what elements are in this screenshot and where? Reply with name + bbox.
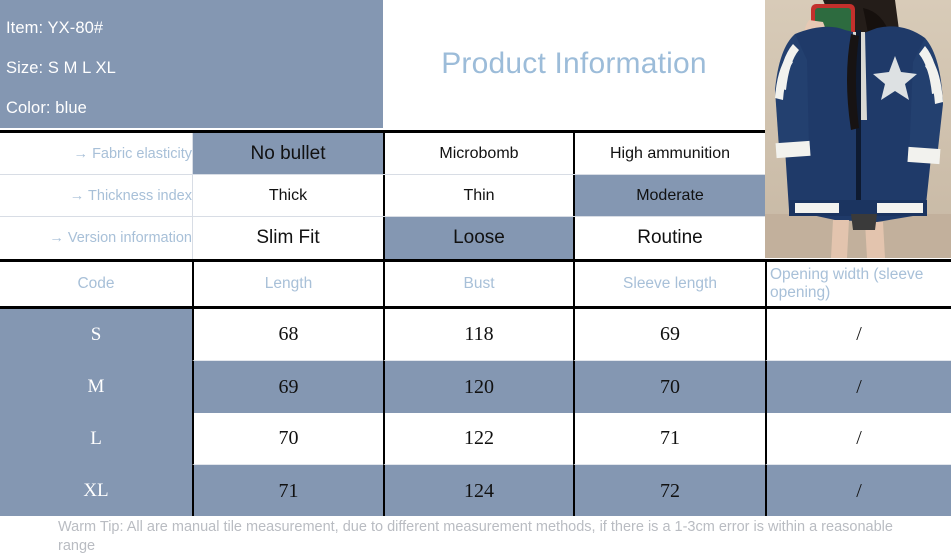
table-row: L 70 122 71 / [0, 413, 951, 465]
attribute-option-slim-fit[interactable]: Slim Fit [192, 217, 383, 259]
attribute-option-label: Thin [463, 187, 494, 205]
size-sleeve-cell: 72 [573, 465, 765, 517]
attribute-option-no-bullet[interactable]: No bullet [192, 133, 383, 174]
attribute-option-label: Microbomb [439, 145, 518, 163]
size-opening-cell: / [765, 413, 951, 465]
footer-note-area: Warm Tip: All are manual tile measuremen… [0, 516, 951, 556]
attribute-option-thin[interactable]: Thin [383, 175, 573, 216]
column-header-code: Code [0, 262, 192, 306]
column-header-sleeve-length: Sleeve length [573, 262, 765, 306]
size-opening-cell: / [765, 361, 951, 413]
attribute-option-routine[interactable]: Routine [573, 217, 765, 259]
attribute-option-label: Moderate [636, 187, 704, 205]
attribute-label-fabric-elasticity: → Fabric elasticity [0, 133, 192, 174]
attribute-option-microbomb[interactable]: Microbomb [383, 133, 573, 174]
size-sleeve-cell: 70 [573, 361, 765, 413]
product-photo [765, 0, 951, 258]
size-sleeve-cell: 71 [573, 413, 765, 465]
attribute-row-thickness-index: → Thickness index Thick Thin Moderate [0, 175, 765, 217]
table-row: XL 71 124 72 / [0, 465, 951, 517]
size-chart-table: Code Length Bust Sleeve length Opening w… [0, 259, 951, 516]
size-bust-cell: 118 [383, 309, 573, 361]
size-code-cell: XL [0, 465, 192, 517]
warm-tip-text: Warm Tip: All are manual tile measuremen… [58, 518, 918, 556]
size-code-cell: S [0, 309, 192, 361]
attribute-option-label: No bullet [251, 143, 326, 165]
size-length-cell: 68 [192, 309, 383, 361]
column-header-opening-width: Opening width (sleeve opening) [765, 262, 951, 306]
attribute-option-loose[interactable]: Loose [383, 217, 573, 259]
size-opening-cell: / [765, 309, 951, 361]
spec-line-color: Color: blue [6, 88, 383, 128]
table-row: S 68 118 69 / [0, 309, 951, 361]
size-code-cell: L [0, 413, 192, 465]
size-bust-cell: 120 [383, 361, 573, 413]
size-code-cell: M [0, 361, 192, 413]
attribute-option-moderate[interactable]: Moderate [573, 175, 765, 216]
attribute-option-label: Slim Fit [256, 227, 319, 249]
attribute-option-high-ammunition[interactable]: High ammunition [573, 133, 765, 174]
size-sleeve-cell: 69 [573, 309, 765, 361]
size-length-cell: 71 [192, 465, 383, 517]
size-chart-header-row: Code Length Bust Sleeve length Opening w… [0, 262, 951, 309]
product-photo-illustration [765, 0, 951, 258]
column-header-length: Length [192, 262, 383, 306]
attribute-row-fabric-elasticity: → Fabric elasticity No bullet Microbomb … [0, 133, 765, 175]
attribute-label-thickness-index: → Thickness index [0, 175, 192, 216]
attribute-row-version-information: → Version information Slim Fit Loose Rou… [0, 217, 765, 259]
column-header-bust: Bust [383, 262, 573, 306]
size-bust-cell: 122 [383, 413, 573, 465]
spec-line-item: Item: YX-80# [6, 8, 383, 48]
attribute-option-thick[interactable]: Thick [192, 175, 383, 216]
page-title: Product Information [441, 47, 707, 81]
attribute-option-label: Loose [453, 227, 505, 249]
size-length-cell: 70 [192, 413, 383, 465]
size-bust-cell: 124 [383, 465, 573, 517]
title-block: Product Information [383, 0, 765, 128]
attribute-table: → Fabric elasticity No bullet Microbomb … [0, 130, 765, 259]
attribute-label-version-information: → Version information [0, 217, 192, 259]
size-length-cell: 69 [192, 361, 383, 413]
attribute-option-label: Thick [269, 187, 307, 205]
spec-summary-block: Item: YX-80# Size: S M L XL Color: blue [0, 0, 383, 128]
attribute-option-label: High ammunition [610, 145, 730, 163]
product-information-page: Item: YX-80# Size: S M L XL Color: blue … [0, 0, 951, 556]
size-opening-cell: / [765, 465, 951, 517]
attribute-option-label: Routine [637, 227, 703, 249]
spec-line-size: Size: S M L XL [6, 48, 383, 88]
table-row: M 69 120 70 / [0, 361, 951, 413]
